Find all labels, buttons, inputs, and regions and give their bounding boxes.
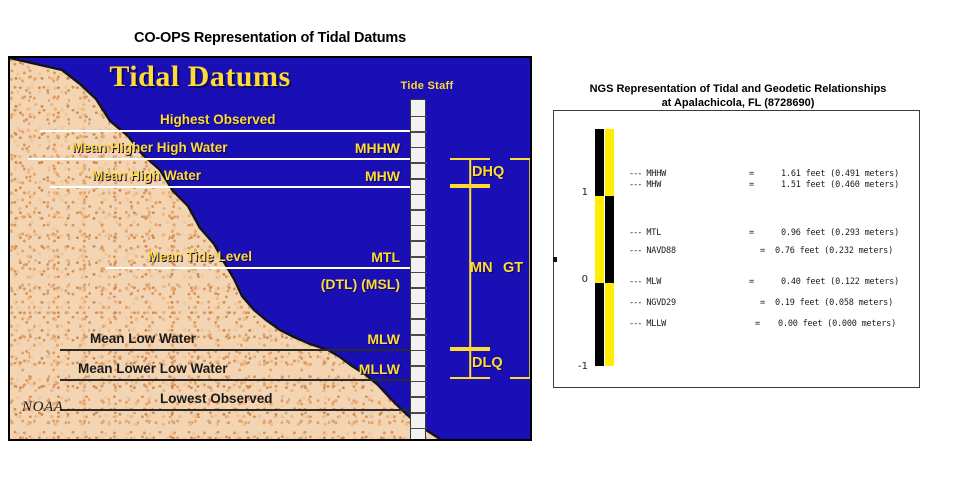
figure-title: Tidal Datums: [10, 60, 390, 94]
bracket-stem: [469, 158, 471, 186]
ngs-datum-row: ---MLW=0.40 feet (0.122 meters): [629, 277, 661, 287]
datum-name-label: Highest Observed: [160, 112, 276, 127]
tide-staff: [410, 99, 426, 441]
tide-staff-rung: [411, 147, 427, 149]
tide-staff-rung: [411, 272, 427, 274]
ngs-bar-segment: [595, 196, 604, 283]
tide-staff-rung: [411, 162, 427, 164]
ngs-row-dash: ---: [629, 180, 641, 190]
tide-staff-rung: [411, 209, 427, 211]
datum-line: [60, 409, 410, 411]
datum-line: [50, 186, 410, 188]
ngs-row-value: 1.51 feet (0.460 meters): [781, 180, 899, 190]
ngs-panel: NGS Representation of Tidal and Geodetic…: [553, 82, 923, 392]
tide-staff-rung: [411, 225, 427, 227]
datum-abbr-label: MLLW: [359, 361, 400, 377]
ngs-row-name: NAVD88: [646, 246, 676, 256]
datum-abbr-label: MTL: [371, 249, 400, 265]
tide-staff-rung: [411, 116, 427, 118]
tidal-datums-figure: Tidal Datums Tide Staff Highest Observed…: [8, 56, 532, 441]
ngs-datum-row: ---MTL=0.96 feet (0.293 meters): [629, 228, 661, 238]
ngs-row-equals: =: [755, 319, 760, 329]
ngs-bar-segment: [605, 129, 614, 196]
bracket-stem: [469, 349, 471, 379]
datum-line: [40, 130, 410, 132]
tide-staff-rung: [411, 194, 427, 196]
range-bracket-label: DHQ: [472, 164, 504, 180]
ngs-row-value: 0.40 feet (0.122 meters): [781, 277, 899, 287]
tide-staff-rung: [411, 334, 427, 336]
tide-staff-rung: [411, 350, 427, 352]
ngs-row-equals: =: [760, 246, 765, 256]
tide-staff-rung: [411, 396, 427, 398]
datum-line: [60, 379, 410, 381]
range-bracket-label: DLQ: [472, 355, 503, 371]
ngs-row-name: MLLW: [646, 319, 666, 329]
ngs-caption-line1: NGS Representation of Tidal and Geodetic…: [553, 82, 923, 96]
tide-staff-rung: [411, 240, 427, 242]
ngs-datum-row: ---MHHW=1.61 feet (0.491 meters): [629, 169, 666, 179]
datum-name-label: Lowest Observed: [160, 391, 273, 406]
bracket-cap-top: [450, 158, 490, 160]
axis-edge-tick-icon: [553, 257, 557, 262]
ngs-row-equals: =: [749, 180, 754, 190]
range-bracket-label: GT: [503, 260, 523, 276]
ngs-axis-tick-label: -1: [568, 361, 588, 372]
ngs-row-dash: ---: [629, 246, 641, 256]
ngs-row-dash: ---: [629, 169, 641, 179]
bracket-cap-bottom: [510, 377, 532, 379]
ngs-datum-row: ---NAVD88=0.76 feet (0.232 meters): [629, 246, 676, 256]
ngs-row-value: 0.96 feet (0.293 meters): [781, 228, 899, 238]
datum-line: [28, 158, 410, 160]
datum-abbr-label: MHW: [365, 168, 400, 184]
ngs-row-value: 0.19 feet (0.058 meters): [775, 298, 893, 308]
ngs-row-equals: =: [749, 277, 754, 287]
tide-staff-rung: [411, 131, 427, 133]
datum-name-label: Mean Low Water: [90, 331, 196, 346]
ngs-caption: NGS Representation of Tidal and Geodetic…: [553, 82, 923, 110]
ngs-row-dash: ---: [629, 319, 641, 329]
bracket-cap-bottom: [450, 377, 490, 379]
datum-name-label: Mean Lower Low Water: [78, 361, 228, 376]
bracket-cap-top: [450, 349, 490, 351]
ngs-row-name: MHW: [646, 180, 661, 190]
tide-staff-rung: [411, 365, 427, 367]
datum-line: [60, 349, 410, 351]
datum-abbr-label: MLW: [367, 331, 400, 347]
datum-line: [106, 267, 410, 269]
bracket-stem: [529, 158, 531, 379]
datum-name-label: Mean High Water: [92, 168, 201, 183]
tide-staff-rung: [411, 318, 427, 320]
ngs-bar-segment: [605, 283, 614, 366]
bracket-cap-top: [510, 158, 532, 160]
ngs-axis-tick-label: 1: [568, 187, 588, 198]
ngs-bar-segment: [595, 129, 604, 196]
ngs-row-dash: ---: [629, 277, 641, 287]
ngs-row-value: 0.76 feet (0.232 meters): [775, 246, 893, 256]
ngs-row-dash: ---: [629, 298, 641, 308]
noaa-watermark: NOAA: [22, 399, 64, 416]
ngs-caption-line2: at Apalachicola, FL (8728690): [553, 96, 923, 110]
tide-staff-rung: [411, 303, 427, 305]
tide-staff-rung: [411, 428, 427, 430]
ngs-datum-row: ---MHW=1.51 feet (0.460 meters): [629, 180, 661, 190]
tide-staff-rung: [411, 256, 427, 258]
coops-panel: CO-OPS Representation of Tidal Datums Ti…: [0, 30, 540, 445]
bracket-cap-top: [450, 186, 490, 188]
tide-staff-rung: [411, 412, 427, 414]
ngs-chart-box: 10-1 ---MHHW=1.61 feet (0.491 meters)---…: [553, 110, 920, 388]
ngs-row-name: MLW: [646, 277, 661, 287]
ngs-bar-segment: [605, 196, 614, 283]
ngs-bar-segment: [595, 283, 604, 366]
ngs-row-value: 0.00 feet (0.000 meters): [778, 319, 896, 329]
tide-staff-rung: [411, 287, 427, 289]
datum-name-label: Mean Higher High Water: [72, 140, 228, 155]
ngs-row-value: 1.61 feet (0.491 meters): [781, 169, 899, 179]
coops-caption: CO-OPS Representation of Tidal Datums: [0, 30, 540, 56]
ngs-row-name: NGVD29: [646, 298, 676, 308]
ngs-axis-tick-label: 0: [568, 274, 588, 285]
ngs-elevation-bar: [595, 129, 614, 366]
ngs-row-dash: ---: [629, 228, 641, 238]
ngs-datum-row: ---MLLW=0.00 feet (0.000 meters): [629, 319, 666, 329]
ngs-row-equals: =: [760, 298, 765, 308]
ngs-row-equals: =: [749, 228, 754, 238]
ngs-row-name: MHHW: [646, 169, 666, 179]
ngs-datum-row: ---NGVD29=0.19 feet (0.058 meters): [629, 298, 676, 308]
range-bracket-label: MN: [470, 260, 493, 276]
datum-abbr-label: MHHW: [355, 140, 400, 156]
ngs-row-name: MTL: [646, 228, 661, 238]
datum-name-label: Mean Tide Level: [148, 249, 252, 264]
tide-staff-rung: [411, 381, 427, 383]
tide-staff-label: Tide Staff: [392, 80, 462, 92]
tide-staff-rung: [411, 178, 427, 180]
datum-abbr-label: (DTL) (MSL): [321, 276, 400, 292]
ngs-row-equals: =: [749, 169, 754, 179]
